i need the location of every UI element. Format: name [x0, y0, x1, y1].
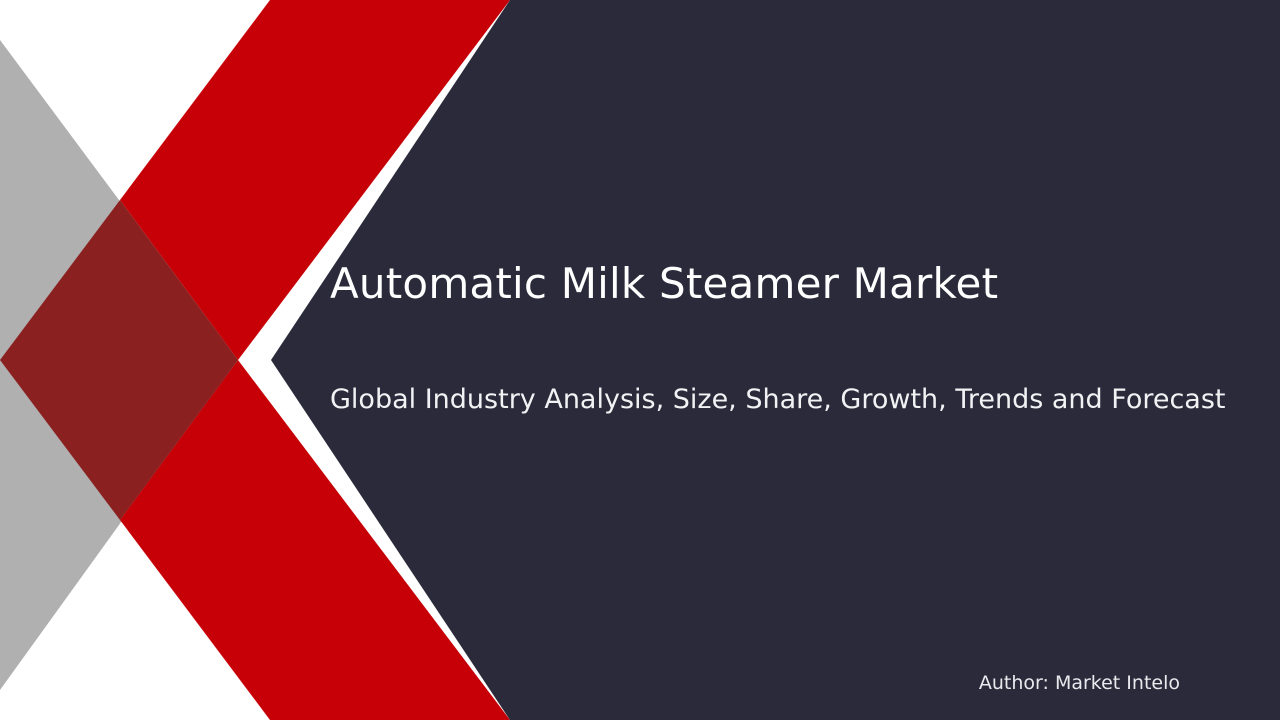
slide-title: Automatic Milk Steamer Market [330, 260, 1230, 308]
presentation-slide: Automatic Milk Steamer Market Global Ind… [0, 0, 1280, 720]
slide-author-credit: Author: Market Intelo [700, 672, 1180, 694]
slide-subtitle: Global Industry Analysis, Size, Share, G… [330, 383, 1240, 417]
slide-decoration [0, 0, 1280, 720]
